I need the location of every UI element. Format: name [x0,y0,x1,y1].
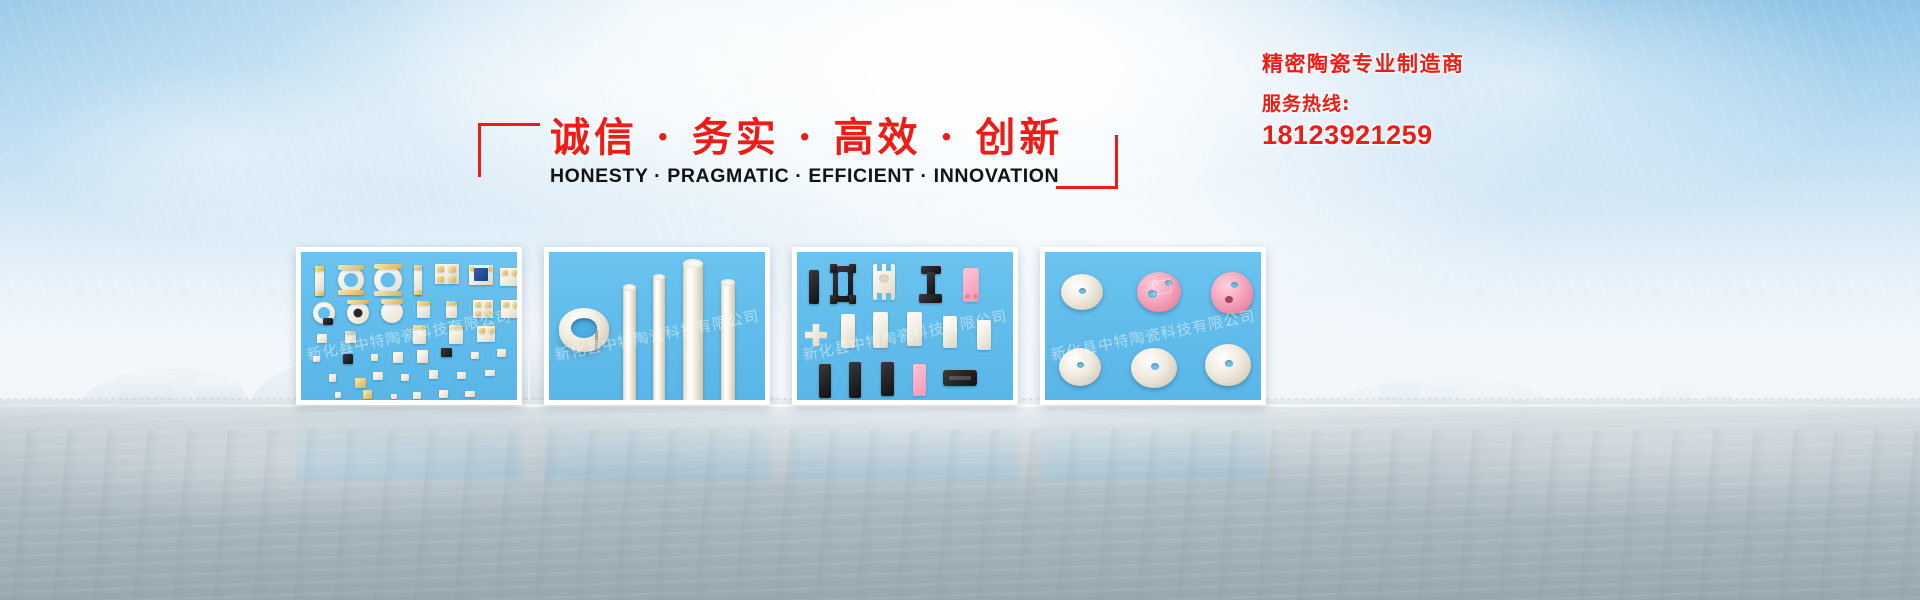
disc-pink-2 [1211,272,1253,314]
contact-block: 精密陶瓷专业制造商 服务热线: 18123921259 [1262,52,1662,151]
hotline-label: 服务热线: [1262,93,1662,116]
product-panel-chip-components[interactable]: 新化县中特陶瓷科技有限公司 [296,247,522,405]
hotline-number[interactable]: 18123921259 [1262,120,1662,151]
slogan-block: 诚信 · 务实 · 高效 · 创新 HONESTY · PRAGMATIC · … [470,105,1110,210]
product-panel-ceramic-tubes[interactable]: 新化县中特陶瓷科技有限公司 [544,247,770,405]
company-tagline: 精密陶瓷专业制造商 [1262,52,1662,77]
bracket-bottom-right-icon [1056,135,1118,189]
product-panel-ceramic-blocks[interactable]: 新化县中特陶瓷科技有限公司 [792,247,1018,405]
product-panel-ceramic-discs[interactable]: 新化县中特陶瓷科技有限公司 [1040,247,1266,405]
hero-banner: 诚信 · 务实 · 高效 · 创新 HONESTY · PRAGMATIC · … [0,0,1920,600]
slogan-english: HONESTY · PRAGMATIC · EFFICIENT · INNOVA… [550,165,1030,188]
product-panels: 新化县中特陶瓷科技有限公司 新化县中特陶瓷科技有限公司 [296,247,1274,405]
ground-ripples [0,430,1920,600]
slogan-chinese: 诚信 · 务实 · 高效 · 创新 [550,105,1030,163]
bracket-top-left-icon [478,123,540,177]
